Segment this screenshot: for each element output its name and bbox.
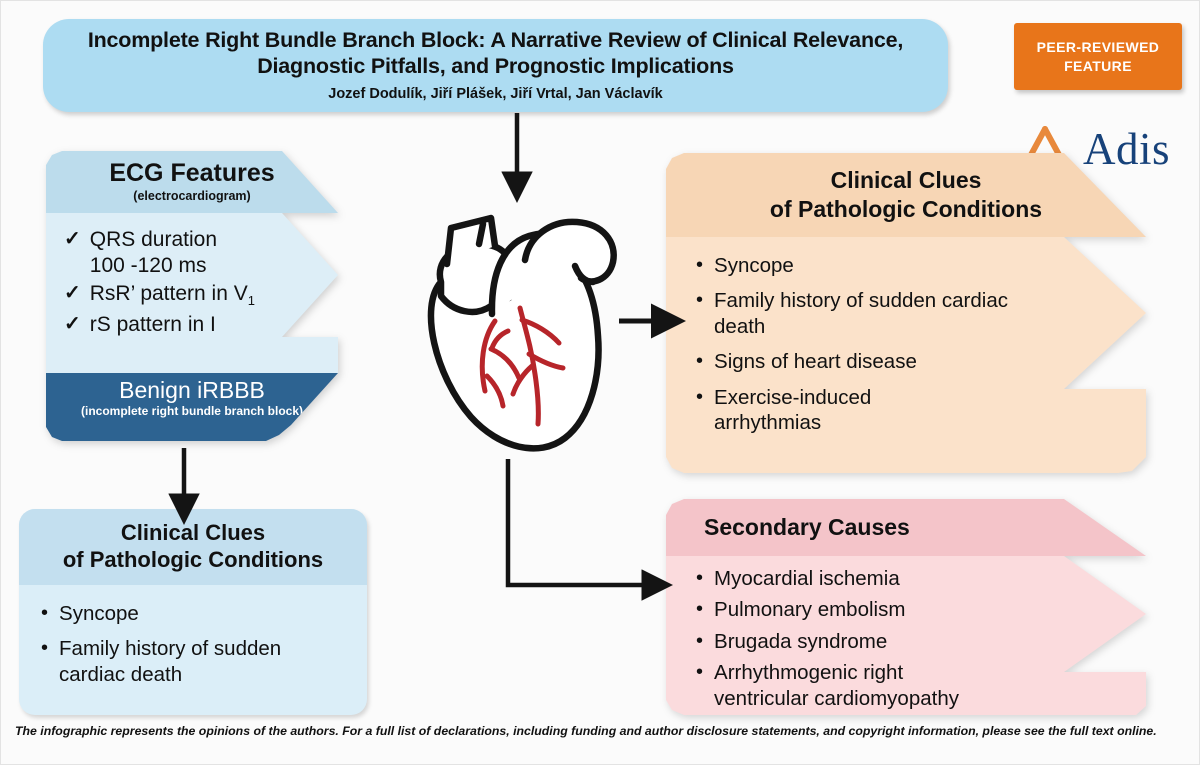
peer-reviewed-badge: PEER-REVIEWED FEATURE — [1014, 23, 1182, 90]
ecg-features-card: ECG Features (electrocardiogram) ✓ QRS d… — [46, 151, 338, 441]
list-item-label: Family history of sudden cardiac death — [714, 288, 1014, 339]
bullet-icon: • — [696, 629, 703, 653]
secondary-causes-card: Secondary Causes • Myocardial ischemia •… — [666, 499, 1146, 715]
clinical-clues-left-title-line2: of Pathologic Conditions — [63, 547, 323, 574]
clinical-clues-right-body: • Syncope • Family history of sudden car… — [666, 237, 1146, 473]
list-item: • Syncope — [41, 601, 367, 626]
list-item: • Arrhythmogenic right ventricular cardi… — [696, 660, 1146, 711]
ecg-features-title: ECG Features — [109, 161, 274, 186]
ecg-features-header: ECG Features (electrocardiogram) — [46, 151, 338, 213]
list-item: • Exercise-induced arrhythmias — [696, 385, 1146, 436]
ecg-features-body: ✓ QRS duration 100 -120 ms ✓ RsR’ patter… — [46, 213, 338, 373]
clinical-clues-right-header: Clinical Clues of Pathologic Conditions — [666, 153, 1146, 237]
clinical-clues-left-body: • Syncope • Family history of sudden car… — [19, 585, 367, 687]
bullet-icon: • — [696, 288, 703, 312]
disclaimer-text: The infographic represents the opinions … — [15, 723, 1175, 740]
secondary-causes-header: Secondary Causes — [666, 499, 1146, 556]
bullet-icon: • — [696, 566, 703, 590]
clinical-clues-left-title-line1: Clinical Clues — [121, 520, 265, 547]
ecg-item-3: rS pattern in I — [90, 312, 216, 338]
list-item-label: Myocardial ischemia — [714, 566, 900, 591]
list-item-label: Syncope — [714, 253, 794, 278]
bullet-icon: • — [41, 636, 48, 660]
bullet-icon: • — [696, 660, 703, 684]
list-item: ✓ QRS duration 100 -120 ms — [64, 227, 338, 278]
list-item-label: Syncope — [59, 601, 139, 626]
anatomical-heart-illustration — [379, 186, 649, 461]
list-item: • Signs of heart disease — [696, 349, 1146, 374]
bullet-icon: • — [696, 385, 703, 409]
list-item: • Myocardial ischemia — [696, 566, 1146, 591]
clinical-clues-right-title-line1: Clinical Clues — [831, 166, 982, 195]
check-icon: ✓ — [64, 312, 81, 337]
check-icon: ✓ — [64, 281, 81, 306]
badge-line-1: PEER-REVIEWED — [1037, 38, 1160, 57]
bullet-icon: • — [696, 253, 703, 277]
list-item: • Family history of sudden cardiac death — [696, 288, 1146, 339]
list-item: • Syncope — [696, 253, 1146, 278]
list-item-label: Arrhythmogenic right ventricular cardiom… — [714, 660, 989, 711]
benign-irbbb-banner: Benign iRBBB (incomplete right bundle br… — [46, 373, 338, 441]
list-item: ✓ RsR’ pattern in V1 — [64, 281, 338, 309]
bullet-icon: • — [41, 601, 48, 625]
title-card: Incomplete Right Bundle Branch Block: A … — [43, 19, 948, 112]
infographic-canvas: Incomplete Right Bundle Branch Block: A … — [0, 0, 1200, 765]
ecg-item-1-line-b: 100 -120 ms — [90, 254, 207, 277]
arrow-heart-to-secondary-causes — [508, 459, 646, 585]
list-item: • Family history of sudden cardiac death — [41, 636, 367, 687]
clinical-clues-right-card: Clinical Clues of Pathologic Conditions … — [666, 153, 1146, 473]
list-item: ✓ rS pattern in I — [64, 312, 338, 338]
clinical-clues-left-card: Clinical Clues of Pathologic Conditions … — [19, 509, 367, 715]
ecg-features-subtitle: (electrocardiogram) — [133, 189, 250, 203]
list-item-label: Brugada syndrome — [714, 629, 887, 654]
list-item-label: Signs of heart disease — [714, 349, 917, 374]
badge-line-2: FEATURE — [1064, 57, 1132, 76]
ecg-item-2: RsR’ pattern in V — [90, 282, 248, 305]
ecg-item-2-subscript: 1 — [248, 293, 255, 308]
benign-irbbb-title: Benign iRBBB — [119, 378, 265, 402]
page-title: Incomplete Right Bundle Branch Block: A … — [66, 27, 926, 79]
clinical-clues-right-title-line2: of Pathologic Conditions — [770, 195, 1042, 224]
list-item: • Brugada syndrome — [696, 629, 1146, 654]
list-item-label: Family history of sudden cardiac death — [59, 636, 349, 687]
secondary-causes-body: • Myocardial ischemia • Pulmonary emboli… — [666, 556, 1146, 715]
clinical-clues-left-header: Clinical Clues of Pathologic Conditions — [19, 509, 367, 585]
bullet-icon: • — [696, 349, 703, 373]
bullet-icon: • — [696, 597, 703, 621]
secondary-causes-title: Secondary Causes — [704, 514, 910, 541]
author-list: Jozef Dodulík, Jiří Plášek, Jiří Vrtal, … — [328, 86, 662, 102]
benign-irbbb-subtitle: (incomplete right bundle branch block) — [81, 404, 303, 418]
list-item: • Pulmonary embolism — [696, 597, 1146, 622]
ecg-item-1-line-a: QRS duration — [90, 228, 217, 251]
check-icon: ✓ — [64, 227, 81, 252]
list-item-label: Exercise-induced arrhythmias — [714, 385, 964, 436]
list-item-label: Pulmonary embolism — [714, 597, 905, 622]
